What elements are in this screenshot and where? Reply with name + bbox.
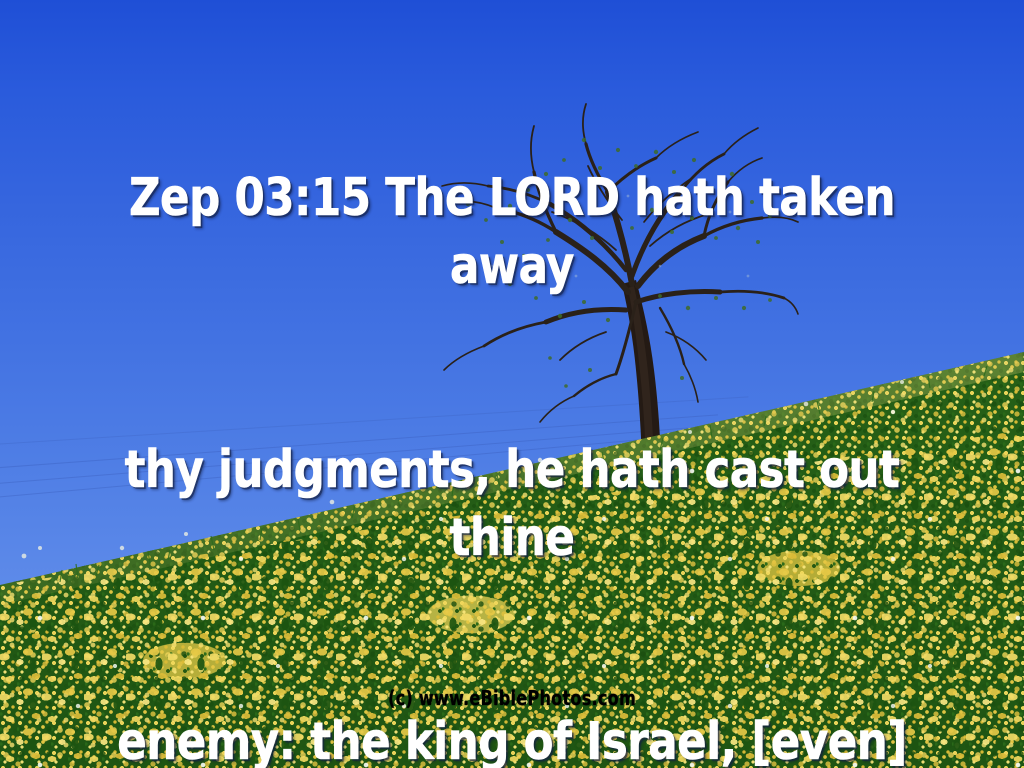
verse-line: enemy: the king of Israel, [even] the — [77, 708, 947, 768]
verse-text: Zep 03:15 The LORD hath taken away thy j… — [36, 28, 988, 768]
scripture-photo-card: Zep 03:15 The LORD hath taken away thy j… — [0, 0, 1024, 768]
verse-line: Zep 03:15 The LORD hath taken away — [77, 164, 947, 300]
verse-line: thy judgments, he hath cast out thine — [77, 436, 947, 572]
copyright-watermark: (c) www.eBiblePhotos.com — [51, 686, 973, 710]
